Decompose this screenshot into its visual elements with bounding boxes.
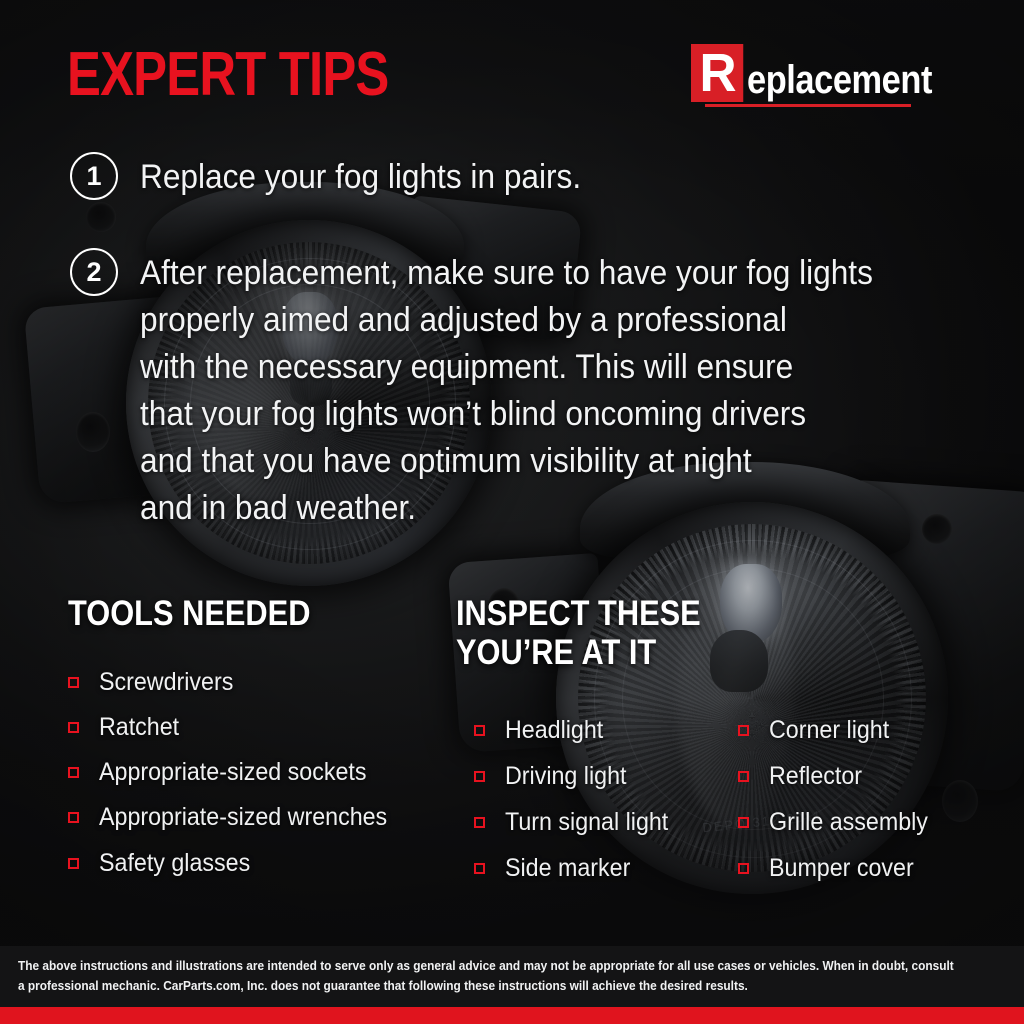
checkbox-icon[interactable] — [68, 722, 79, 733]
inspect-item-label: Grille assembly — [769, 810, 928, 835]
tip-item-1: 1 Replace your fog lights in pairs. — [70, 152, 614, 201]
inspect-these-heading: INSPECT THESE YOU’RE AT IT — [456, 594, 701, 672]
tools-item-label: Screwdrivers — [99, 670, 233, 695]
checkbox-icon[interactable] — [738, 863, 749, 874]
tip-text-2: After replacement, make sure to have you… — [140, 250, 873, 531]
inspect-item-label: Side marker — [505, 856, 630, 881]
inspect-list-item: Driving light — [474, 764, 636, 789]
checkbox-icon[interactable] — [68, 677, 79, 688]
logo-wordmark: eplacement — [747, 60, 932, 100]
expert-tips-infographic: DEPO 312-2011 EXPERT TIPS R eplacement 1… — [0, 0, 1024, 1024]
checkbox-icon[interactable] — [738, 817, 749, 828]
checkbox-icon[interactable] — [474, 725, 485, 736]
logo-underline — [705, 104, 911, 107]
inspect-list-item: Corner light — [738, 718, 898, 743]
tip-number-badge-1: 1 — [70, 152, 118, 200]
inspect-list-item: Reflector — [738, 764, 869, 789]
tools-needed-heading: TOOLS NEEDED — [68, 594, 310, 633]
tools-item-label: Appropriate-sized sockets — [99, 760, 367, 785]
tools-item-label: Safety glasses — [99, 851, 250, 876]
tools-list-item: Screwdrivers — [68, 670, 243, 695]
inspect-item-label: Bumper cover — [769, 856, 914, 881]
checkbox-icon[interactable] — [68, 767, 79, 778]
content-layer: EXPERT TIPS R eplacement 1 Replace your … — [0, 0, 1024, 1024]
tools-item-label: Ratchet — [99, 715, 179, 740]
inspect-list-item: Bumper cover — [738, 856, 925, 881]
tools-list-item: Safety glasses — [68, 851, 262, 876]
inspect-item-label: Headlight — [505, 718, 603, 743]
checkbox-icon[interactable] — [474, 771, 485, 782]
replacement-brand-logo: R eplacement — [691, 44, 962, 107]
checkbox-icon[interactable] — [474, 817, 485, 828]
checkbox-icon[interactable] — [68, 858, 79, 869]
tools-list-item: Ratchet — [68, 715, 185, 740]
checkbox-icon[interactable] — [474, 863, 485, 874]
logo-row: R eplacement — [691, 44, 962, 102]
disclaimer-text: The above instructions and illustrations… — [18, 956, 957, 997]
tip-text-1: Replace your fog lights in pairs. — [140, 154, 581, 201]
checkbox-icon[interactable] — [738, 725, 749, 736]
logo-r-mark: R — [691, 44, 743, 102]
inspect-list-item: Grille assembly — [738, 810, 940, 835]
inspect-item-label: Reflector — [769, 764, 862, 789]
bottom-accent-bar — [0, 1007, 1024, 1024]
checkbox-icon[interactable] — [68, 812, 79, 823]
checkbox-icon[interactable] — [738, 771, 749, 782]
inspect-item-label: Corner light — [769, 718, 889, 743]
inspect-item-label: Driving light — [505, 764, 626, 789]
page-title: EXPERT TIPS — [67, 44, 389, 106]
inspect-list-item: Side marker — [474, 856, 640, 881]
tools-list-item: Appropriate-sized wrenches — [68, 805, 409, 830]
tools-list-item: Appropriate-sized sockets — [68, 760, 387, 785]
inspect-list-item: Headlight — [474, 718, 611, 743]
tip-number-badge-2: 2 — [70, 248, 118, 296]
tip-item-2: 2 After replacement, make sure to have y… — [70, 248, 928, 531]
inspect-item-label: Turn signal light — [505, 810, 668, 835]
inspect-list-item: Turn signal light — [474, 810, 681, 835]
tools-item-label: Appropriate-sized wrenches — [99, 805, 387, 830]
